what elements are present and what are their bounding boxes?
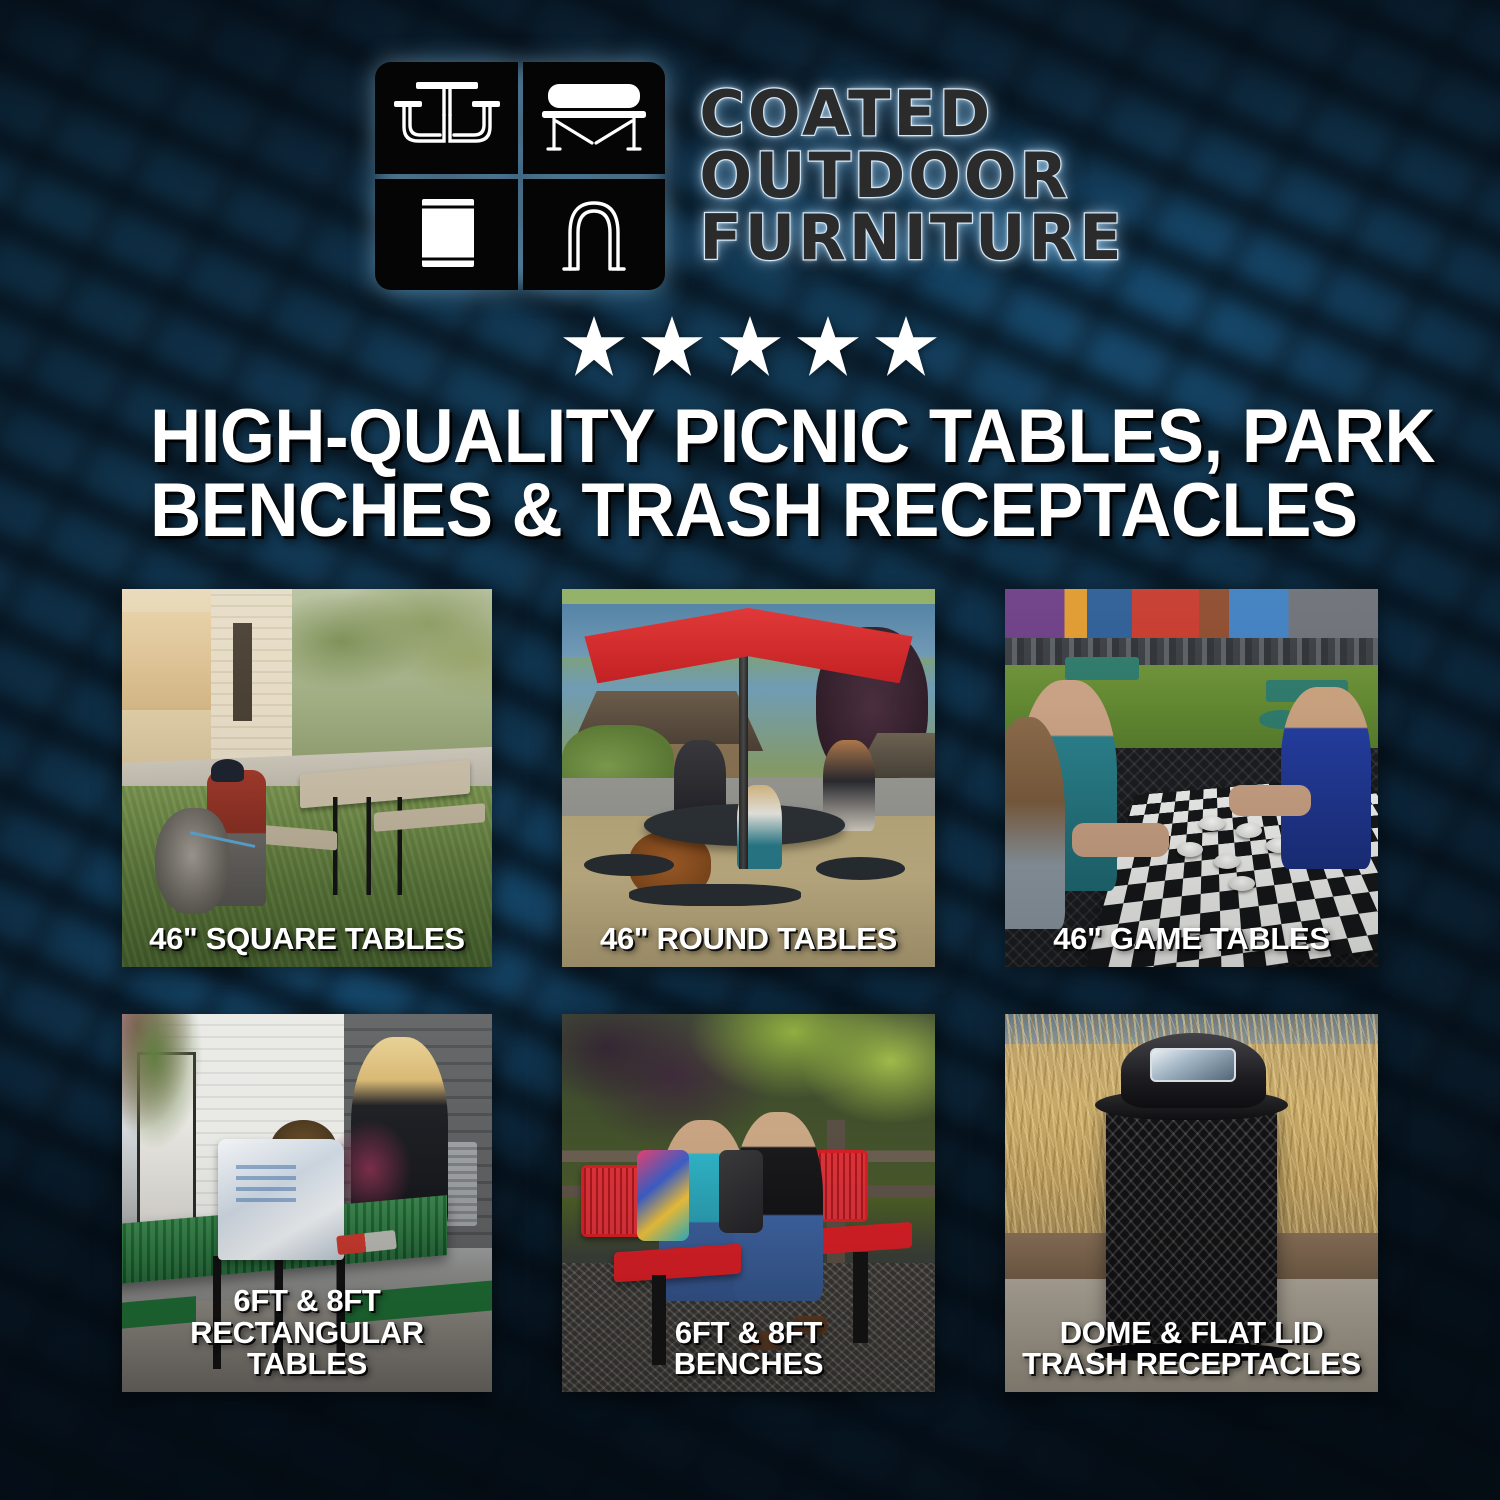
product-photo-round-tables <box>562 589 935 967</box>
headline-line-1: HIGH-QUALITY PICNIC TABLES, PARK <box>150 400 1350 474</box>
product-card-rectangular-tables[interactable]: 6FT & 8FT RECTANGULAR TABLES <box>122 1014 492 1392</box>
product-caption-line-1: 46" GAME TABLES <box>1011 923 1372 955</box>
star-icon <box>875 316 937 376</box>
product-caption-line-1: 46" ROUND TABLES <box>568 923 929 955</box>
brand-lockup: COATED OUTDOOR FURNITURE <box>375 62 1124 290</box>
product-card-square-tables[interactable]: 46" SQUARE TABLES <box>122 589 492 967</box>
page-title: HIGH-QUALITY PICNIC TABLES, PARK BENCHES… <box>150 400 1350 549</box>
product-card-benches[interactable]: 6FT & 8FT BENCHES <box>562 1014 935 1392</box>
product-photo-square-tables <box>122 589 492 967</box>
headline-line-2: BENCHES & TRASH RECEPTACLES <box>150 474 1350 548</box>
product-caption: 46" SQUARE TABLES <box>122 923 492 955</box>
brand-name: COATED OUTDOOR FURNITURE <box>699 84 1124 268</box>
star-icon <box>641 316 703 376</box>
product-caption-line-1: DOME & FLAT LID <box>1011 1317 1372 1349</box>
picnic-table-icon <box>375 62 518 174</box>
brand-logo-mark <box>375 62 665 290</box>
product-caption: DOME & FLAT LID TRASH RECEPTACLES <box>1005 1317 1378 1380</box>
bike-rack-icon <box>523 179 666 291</box>
trash-receptacle-icon <box>375 179 518 291</box>
product-caption: 6FT & 8FT BENCHES <box>562 1317 935 1380</box>
bench-icon <box>523 62 666 174</box>
star-rating <box>563 316 937 376</box>
product-card-round-tables[interactable]: 46" ROUND TABLES <box>562 589 935 967</box>
product-caption-line-2: BENCHES <box>568 1348 929 1380</box>
product-caption-line-1: 6FT & 8FT <box>128 1285 486 1317</box>
product-photo-game-tables <box>1005 589 1378 967</box>
product-grid: 46" SQUARE TABLES <box>122 589 1378 1392</box>
product-card-game-tables[interactable]: 46" GAME TABLES <box>1005 589 1378 967</box>
brand-name-line-2: OUTDOOR <box>699 146 1124 206</box>
star-icon <box>563 316 625 376</box>
star-icon <box>797 316 859 376</box>
brand-name-line-3: FURNITURE <box>699 208 1124 268</box>
product-caption-line-2: TRASH RECEPTACLES <box>1011 1348 1372 1380</box>
product-caption-line-1: 6FT & 8FT <box>568 1317 929 1349</box>
product-caption-line-2: RECTANGULAR TABLES <box>128 1317 486 1380</box>
product-caption: 46" GAME TABLES <box>1005 923 1378 955</box>
product-caption-line-1: 46" SQUARE TABLES <box>128 923 486 955</box>
promo-poster: COATED OUTDOOR FURNITURE HIGH-QUALITY PI… <box>0 0 1500 1500</box>
star-icon <box>719 316 781 376</box>
brand-name-line-1: COATED <box>699 84 1124 144</box>
product-caption: 46" ROUND TABLES <box>562 923 935 955</box>
product-card-trash-receptacles[interactable]: DOME & FLAT LID TRASH RECEPTACLES <box>1005 1014 1378 1392</box>
product-caption: 6FT & 8FT RECTANGULAR TABLES <box>122 1285 492 1380</box>
